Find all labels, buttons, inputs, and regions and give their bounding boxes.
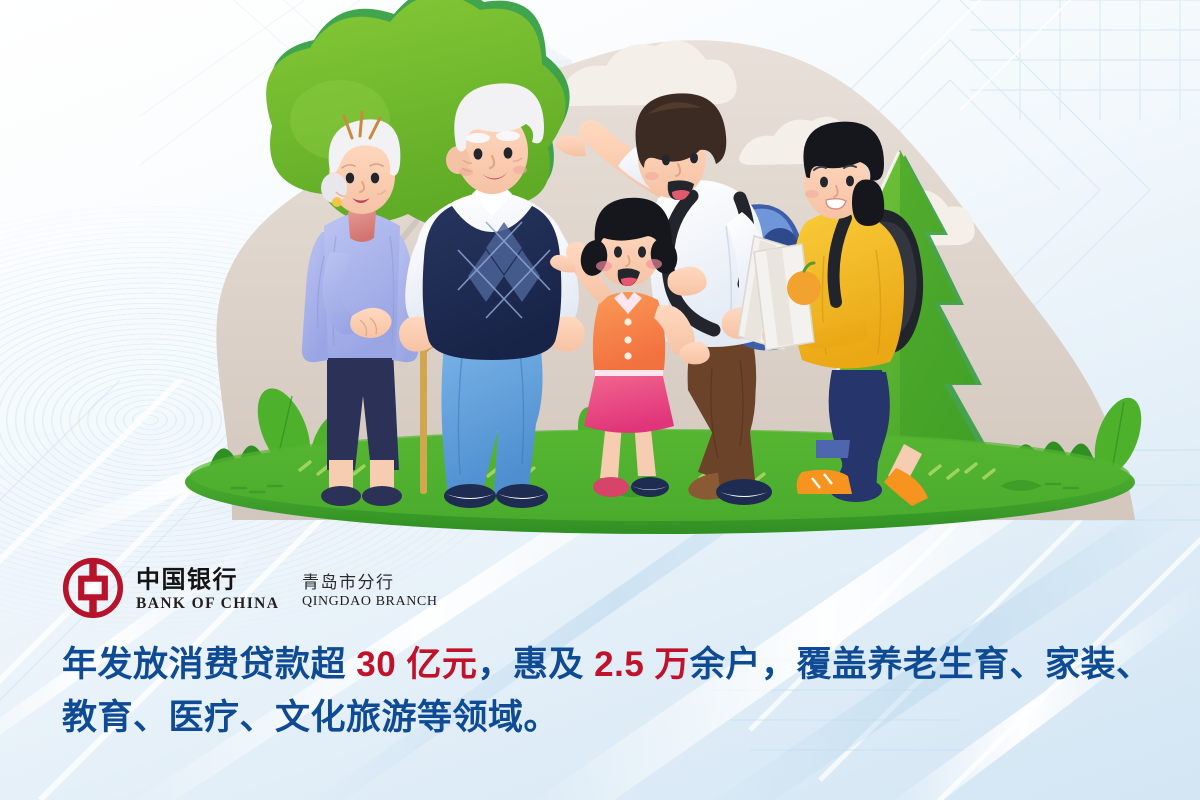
branch-name-block: 青岛市分行 QINGDAO BRANCH: [302, 572, 438, 612]
headline-line-1: 年发放消费贷款超 30 亿元，惠及 2.5 万余户，覆盖养老生育、家装、: [62, 638, 1162, 691]
headline-segment-2: ，惠及: [477, 645, 594, 684]
boc-english-name: BANK OF CHINA: [136, 596, 279, 612]
boc-chinese-name-text: 中国银行: [136, 565, 238, 594]
boc-name-block: 中国银行 BANK OF CHINA: [136, 564, 286, 612]
branch-english-name: QINGDAO BRANCH: [302, 593, 438, 611]
headline-highlight-amount: 30 亿元: [356, 645, 477, 684]
bank-of-china-logo-icon: [62, 557, 124, 619]
headline-segment-1: 年发放消费贷款超: [62, 645, 356, 684]
branch-chinese-name: 青岛市分行: [302, 572, 395, 593]
headline-highlight-households: 2.5 万: [594, 645, 690, 684]
headline-segment-3: 余户，覆盖养老生育、家装、: [690, 645, 1152, 684]
illustration-scene: [0, 0, 1200, 560]
headline-line-2: 教育、医疗、文化旅游等领域。: [62, 691, 1162, 744]
brand-lockup: 中国银行 BANK OF CHINA 青岛市分行 QINGDAO BRANCH: [62, 552, 438, 624]
headline-text: 年发放消费贷款超 30 亿元，惠及 2.5 万余户，覆盖养老生育、家装、 教育、…: [62, 638, 1162, 744]
brand-names: 中国银行 BANK OF CHINA 青岛市分行 QINGDAO BRANCH: [136, 564, 438, 612]
poster-root: 中国银行 BANK OF CHINA 青岛市分行 QINGDAO BRANCH …: [0, 0, 1200, 800]
boc-chinese-name-icon: 中国银行: [136, 564, 286, 594]
